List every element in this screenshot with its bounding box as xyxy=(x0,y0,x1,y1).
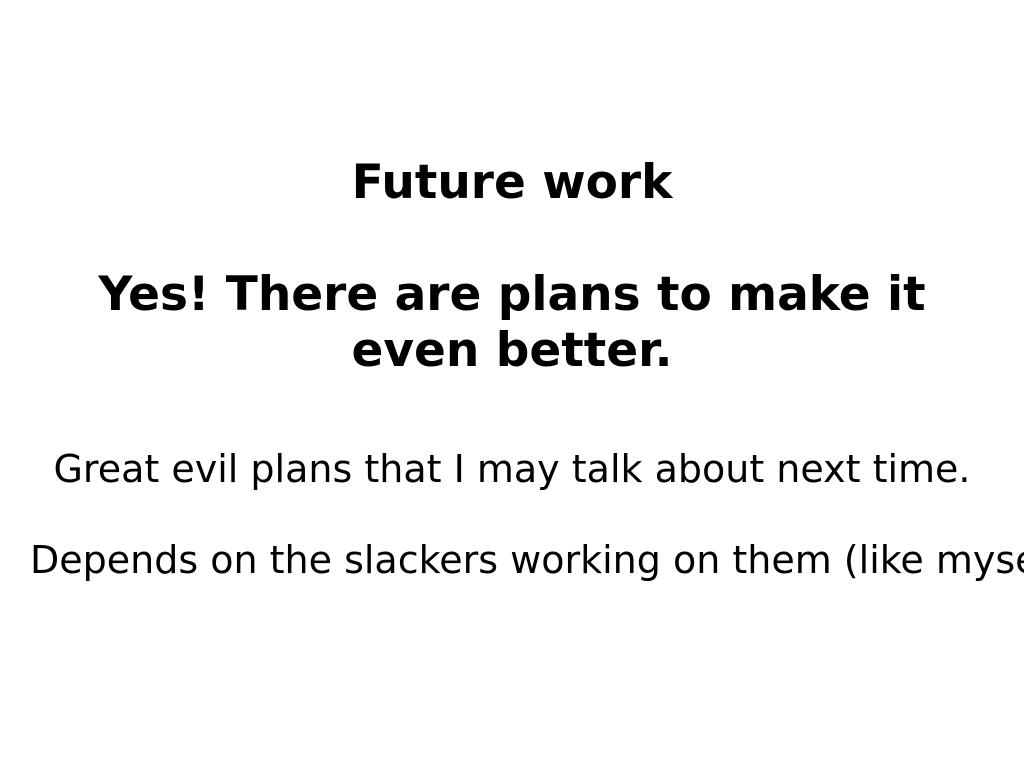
presentation-slide: Future work Yes! There are plans to make… xyxy=(0,0,1024,768)
heading-blank-line xyxy=(40,211,984,267)
body-line-2: Depends on the slackers working on them … xyxy=(30,537,994,583)
slide-title: Future work xyxy=(40,155,984,211)
slide-subtitle: Yes! There are plans to make it even bet… xyxy=(40,267,984,379)
body-group: Great evil plans that I may talk about n… xyxy=(30,446,994,583)
body-blank-line xyxy=(30,492,994,537)
heading-group: Future work Yes! There are plans to make… xyxy=(40,155,984,379)
body-line-1: Great evil plans that I may talk about n… xyxy=(30,446,994,492)
